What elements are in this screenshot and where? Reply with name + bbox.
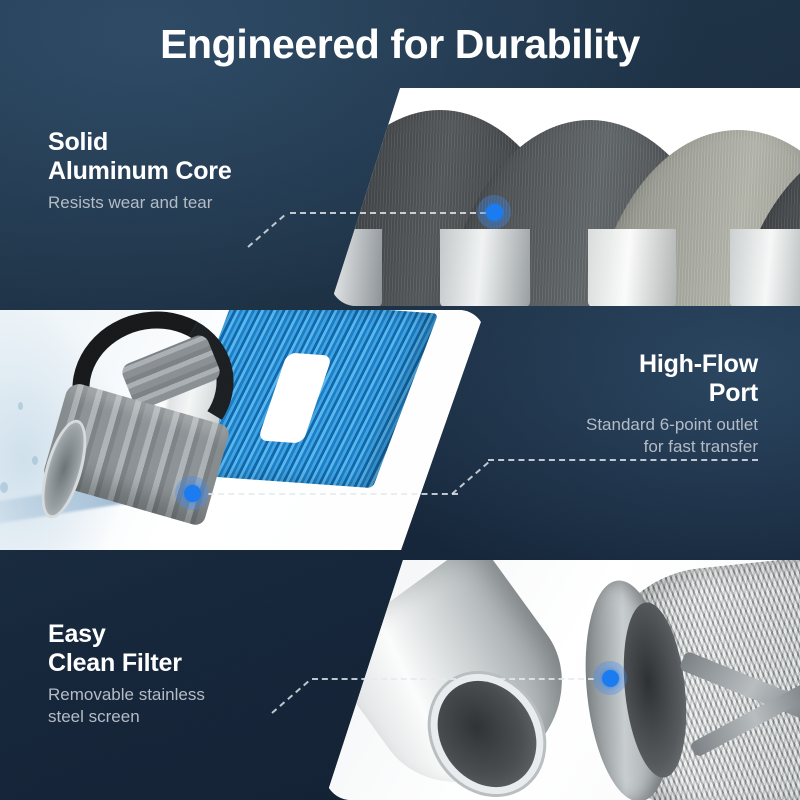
callout-heading-solid-aluminum-core: Solid Aluminum Core bbox=[48, 128, 232, 185]
callout-heading-high-flow-port: High-Flow Port bbox=[586, 350, 758, 407]
callout-subtext-high-flow-port: Standard 6-point outlet for fast transfe… bbox=[586, 414, 758, 458]
callout-solid-aluminum-core: Solid Aluminum Core Resists wear and tea… bbox=[48, 128, 232, 214]
marker-dot-easy-clean-filter bbox=[593, 661, 627, 695]
droplet bbox=[18, 402, 23, 410]
page-title: Engineered for Durability bbox=[0, 20, 800, 69]
marker-dot-high-flow-port bbox=[175, 476, 209, 510]
callout-subtext-easy-clean-filter: Removable stainless steel screen bbox=[48, 684, 205, 728]
connector-diagonal bbox=[247, 215, 285, 248]
feature-image-high-flow-port bbox=[0, 310, 485, 550]
droplet bbox=[32, 456, 38, 465]
callout-high-flow-port: High-Flow Port Standard 6-point outlet f… bbox=[586, 350, 758, 458]
filter-screen-art bbox=[325, 560, 800, 800]
band-4-edge bbox=[730, 229, 800, 306]
pump-outlet-art bbox=[0, 310, 485, 550]
connector-diagonal bbox=[451, 462, 489, 495]
callout-heading-easy-clean-filter: Easy Clean Filter bbox=[48, 620, 205, 677]
droplet bbox=[0, 482, 8, 493]
connector-diagonal bbox=[271, 681, 309, 714]
aluminum-bands-art bbox=[330, 88, 800, 306]
callout-subtext-solid-aluminum-core: Resists wear and tear bbox=[48, 192, 232, 214]
marker-dot-solid-aluminum-core bbox=[477, 195, 511, 229]
callout-easy-clean-filter: Easy Clean Filter Removable stainless st… bbox=[48, 620, 205, 728]
connector-horizontal-2 bbox=[488, 459, 758, 461]
product-feature-banner: Engineered for Durability Solid Aluminum… bbox=[0, 0, 800, 800]
band-1-edge bbox=[330, 229, 382, 306]
band-3-edge bbox=[588, 229, 676, 306]
band-2-edge bbox=[440, 229, 530, 306]
feature-image-easy-clean-filter bbox=[325, 560, 800, 800]
feature-image-solid-aluminum-core bbox=[330, 88, 800, 306]
